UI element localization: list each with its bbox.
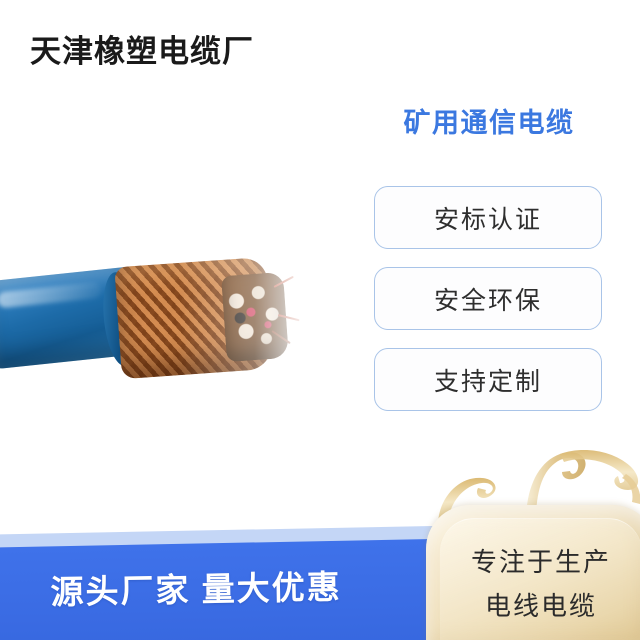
banner-slogan: 源头厂家 量大优惠: [26, 560, 367, 615]
product-headline: 矿用通信电缆: [375, 101, 603, 140]
product-poster: 天津橡塑电缆厂 矿用通信电缆 安标认证 安全环保 支持定制 源头厂家 量大优惠: [0, 0, 640, 640]
feature-item-eco-safety[interactable]: 安全环保: [374, 267, 602, 330]
focus-badge-line-1: 专注于生产: [438, 540, 640, 584]
focus-badge-line-2: 电线电缆: [438, 584, 640, 628]
feature-item-customization[interactable]: 支持定制: [374, 348, 602, 411]
feature-list: 安标认证 安全环保 支持定制: [374, 186, 602, 411]
feature-label: 支持定制: [434, 362, 542, 398]
product-image: [0, 252, 306, 392]
feature-label: 安标认证: [434, 200, 542, 236]
feature-label: 安全环保: [434, 281, 542, 317]
focus-badge-text: 专注于生产 电线电缆: [438, 540, 640, 628]
feature-item-certification[interactable]: 安标认证: [374, 186, 602, 249]
page-title: 天津橡塑电缆厂: [30, 33, 254, 70]
